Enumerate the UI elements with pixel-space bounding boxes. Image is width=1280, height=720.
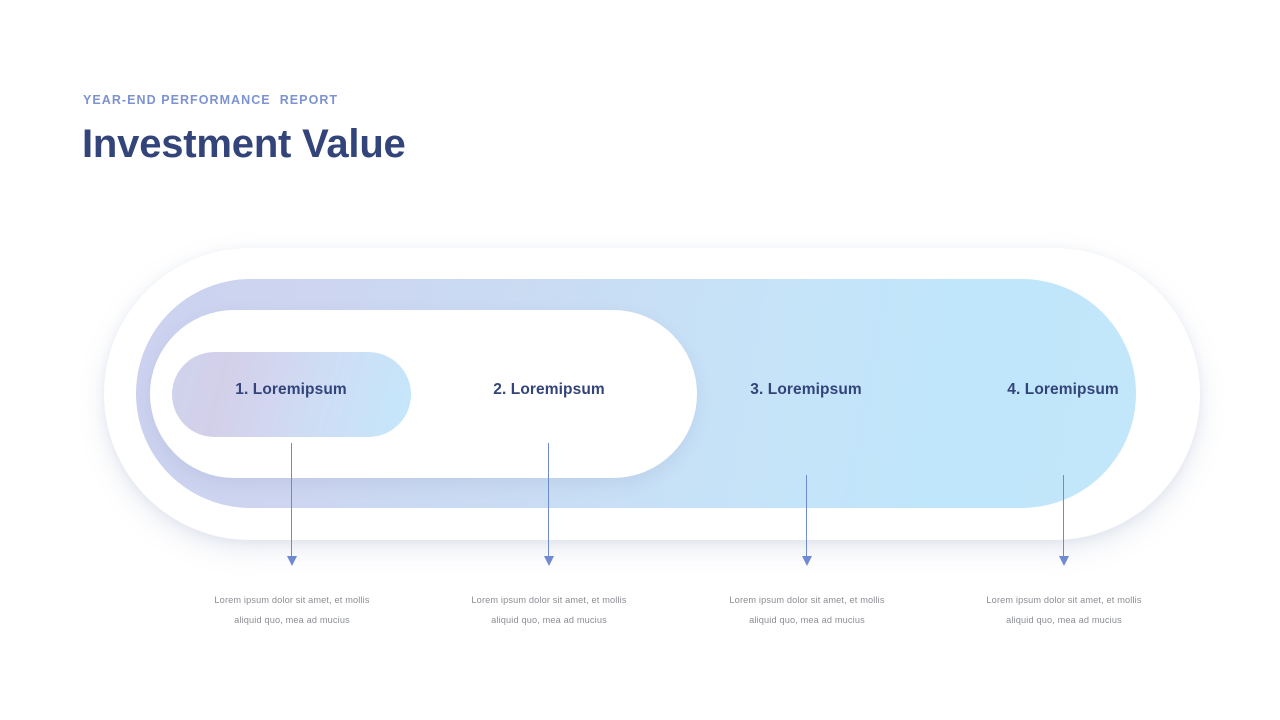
step-label-1[interactable]: 1. Loremipsum <box>161 381 421 399</box>
step-caption-3: Lorem ipsum dolor sit amet, et mollis al… <box>677 590 937 630</box>
arrow-stem <box>291 443 292 557</box>
connector-arrow-4 <box>1058 475 1070 566</box>
step-label-4[interactable]: 4. Loremipsum <box>933 381 1193 399</box>
step-caption-2: Lorem ipsum dolor sit amet, et mollis al… <box>419 590 679 630</box>
connector-arrow-1 <box>286 443 298 566</box>
caption-line: aliquid quo, mea ad mucius <box>162 610 422 630</box>
caption-line: Lorem ipsum dolor sit amet, et mollis <box>162 590 422 610</box>
arrow-stem <box>806 475 807 557</box>
caption-line: Lorem ipsum dolor sit amet, et mollis <box>934 590 1194 610</box>
arrow-head-icon <box>1059 556 1069 566</box>
caption-line: aliquid quo, mea ad mucius <box>934 610 1194 630</box>
caption-line: aliquid quo, mea ad mucius <box>677 610 937 630</box>
arrow-head-icon <box>544 556 554 566</box>
arrow-stem <box>1063 475 1064 557</box>
arrow-stem <box>548 443 549 557</box>
connector-arrow-2 <box>543 443 555 566</box>
step-caption-4: Lorem ipsum dolor sit amet, et mollis al… <box>934 590 1194 630</box>
caption-line: Lorem ipsum dolor sit amet, et mollis <box>419 590 679 610</box>
step-label-3[interactable]: 3. Loremipsum <box>676 381 936 399</box>
step-caption-1: Lorem ipsum dolor sit amet, et mollis al… <box>162 590 422 630</box>
step-label-2[interactable]: 2. Loremipsum <box>419 381 679 399</box>
arrow-head-icon <box>287 556 297 566</box>
arrow-head-icon <box>802 556 812 566</box>
caption-line: aliquid quo, mea ad mucius <box>419 610 679 630</box>
connector-arrow-3 <box>801 475 813 566</box>
caption-line: Lorem ipsum dolor sit amet, et mollis <box>677 590 937 610</box>
